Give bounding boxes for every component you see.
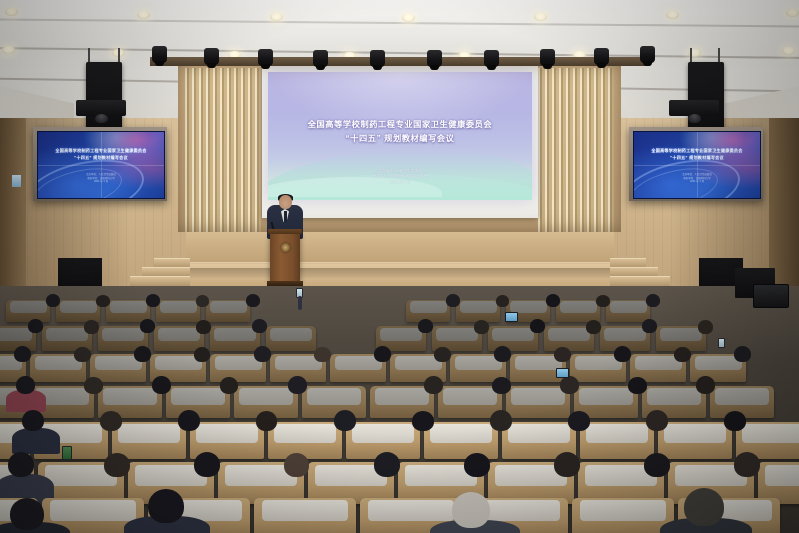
audience-head [84, 320, 99, 334]
stage-light-icon [540, 49, 555, 66]
audience-head [568, 411, 590, 431]
audience-head [104, 453, 130, 477]
audience-head [194, 347, 210, 362]
audience-head [412, 411, 434, 431]
audience-head [674, 347, 691, 362]
audience-head [146, 294, 160, 307]
audience-head [418, 319, 433, 333]
audience-head [356, 377, 375, 394]
audience-head [530, 319, 545, 333]
audience-head [424, 376, 443, 394]
audience-head [474, 320, 489, 334]
audience-head [724, 411, 746, 431]
audience-head [134, 346, 151, 362]
audience-head [644, 453, 670, 477]
audience-head [554, 452, 580, 477]
led-left-title-line-1: 全国高等学校制药工程专业国家卫生健康委员会 [38, 147, 164, 154]
audience-head [28, 319, 43, 333]
audience-head [22, 410, 44, 431]
audience-head [374, 452, 400, 477]
tablet-icon [505, 312, 518, 322]
audience-head [494, 346, 511, 362]
stage-light-icon [594, 48, 609, 65]
audience-area [0, 286, 799, 533]
podium [270, 232, 300, 282]
smartphone-icon [718, 338, 725, 348]
audience-head [546, 294, 560, 307]
ceiling-downlight [137, 11, 150, 19]
led-right-title-line-1: 全国高等学校制药工程专业国家卫生健康委员会 [634, 147, 760, 154]
ceiling-downlight [666, 11, 679, 19]
audience-head [596, 295, 610, 307]
auditorium-photo: 全国高等学校制药工程专业国家卫生健康委员会 “十四五” 规划教材编写会议 主办单… [0, 0, 799, 533]
audience-head [554, 347, 571, 362]
audience-head [148, 489, 184, 523]
audience-head [96, 295, 110, 307]
ceiling-downlight [786, 9, 799, 17]
audience-head [140, 319, 155, 333]
audience-head [684, 488, 724, 526]
audience-head [254, 346, 271, 362]
audience-head [646, 410, 668, 431]
led-left-subtitle-line-3: 2021 年 4 月 [38, 180, 164, 184]
audience-head [434, 347, 451, 362]
stage-light-icon [152, 46, 167, 63]
tablet-icon [556, 368, 569, 378]
audience-head [374, 346, 391, 362]
dome-camera-icon [95, 114, 108, 123]
stage-light-icon [370, 50, 385, 67]
led-right-subtitle-line-3: 2021 年 4 月 [634, 180, 760, 184]
audience-head [246, 294, 260, 307]
audience-head [84, 377, 103, 394]
audience-head [446, 294, 460, 307]
audience-head [464, 453, 490, 477]
audience-head [734, 346, 751, 362]
audience-head [220, 377, 238, 394]
stage-light-icon [640, 46, 655, 63]
audience-head [614, 346, 631, 362]
audience-head [734, 452, 760, 477]
audience-head [314, 347, 331, 362]
audience-head [628, 377, 647, 394]
audience-head [452, 492, 490, 528]
audience-head [8, 452, 34, 477]
stage-light-icon [313, 50, 328, 67]
audience-head [288, 376, 307, 394]
stage-light-icon [427, 50, 442, 67]
audience-head [152, 376, 171, 394]
led-right-title-line-2: “十四五” 规划教材编写会议 [634, 154, 760, 161]
audience-head [698, 320, 713, 334]
stage-step-right [610, 276, 670, 286]
audience-head [284, 453, 309, 477]
audience-head [256, 411, 277, 431]
audience-head [646, 294, 660, 307]
audience-head [334, 410, 356, 431]
audience-head [16, 376, 35, 394]
ceiling-downlight [2, 46, 15, 54]
audience-head [252, 319, 267, 333]
ceiling-downlight [782, 47, 795, 55]
audience-head [46, 294, 60, 307]
ceiling-downlight [534, 13, 547, 21]
ceiling-downlight [270, 13, 283, 21]
smartphone-icon [62, 446, 72, 460]
audience-head [100, 411, 122, 431]
ceiling-downlight [402, 14, 415, 22]
audience-head [492, 377, 511, 394]
audience-head [586, 320, 601, 334]
led-video-wall-right: 全国高等学校制药工程专业国家卫生健康委员会 “十四五” 规划教材编写会议 主办单… [629, 127, 763, 201]
control-monitor [753, 284, 789, 308]
stage-light-icon [258, 49, 273, 66]
stage-light-icon [204, 48, 219, 65]
audience-head [642, 319, 657, 333]
audience-shoulders [12, 428, 60, 454]
audience-head [496, 295, 509, 307]
audience-head [696, 376, 715, 394]
audience-head [178, 410, 200, 431]
led-video-wall-left: 全国高等学校制药工程专业国家卫生健康委员会 “十四五” 规划教材编写会议 主办单… [33, 127, 167, 201]
presenter-head [279, 195, 292, 209]
audience-head [14, 346, 31, 362]
podium-emblem-icon [281, 243, 290, 252]
audience-head [490, 410, 512, 431]
audience-head [194, 452, 220, 477]
audience-head [196, 295, 209, 307]
audience-head [10, 498, 44, 530]
wall-plate-icon [12, 175, 21, 187]
lighting-truss [150, 57, 650, 66]
audience-head [74, 347, 91, 362]
stage-light-icon [484, 50, 499, 67]
audience-head [560, 376, 579, 394]
dome-camera-icon [688, 114, 701, 123]
ceiling-downlight [5, 8, 18, 16]
stage-step-left [130, 276, 190, 286]
led-left-title-line-2: “十四五” 规划教材编写会议 [38, 154, 164, 161]
audience-head [196, 320, 211, 334]
